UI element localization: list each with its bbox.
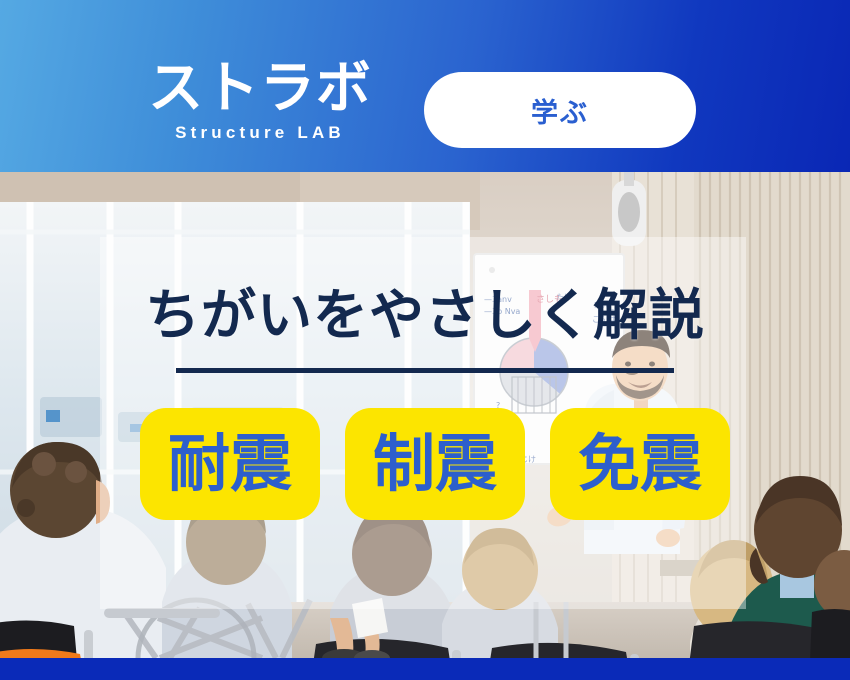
footer-bar	[0, 658, 850, 680]
brand-logo[interactable]: ストラボ Structure LAB	[140, 60, 380, 152]
badge-menshin-label: 免震	[578, 433, 702, 495]
learn-button[interactable]: 学ぶ	[424, 72, 696, 148]
svg-text:さしも: さしも	[536, 294, 563, 305]
svg-text:—3b Nva: —3b Nva	[484, 307, 520, 316]
keyword-badge-group: 耐震 制震 免震	[140, 408, 730, 520]
badge-taishin-label: 耐震	[168, 433, 292, 495]
badge-seishin[interactable]: 制震	[345, 408, 525, 520]
headline-underline	[176, 368, 674, 373]
badge-taishin[interactable]: 耐震	[140, 408, 320, 520]
badge-seishin-label: 制震	[373, 433, 497, 495]
svg-text:—3anv: —3anv	[484, 295, 512, 304]
learn-button-label: 学ぶ	[531, 91, 589, 130]
slide-canvas: ストラボ Structure LAB 学ぶ	[0, 0, 850, 680]
header-bar: ストラボ Structure LAB 学ぶ	[0, 0, 850, 172]
logo-subtitle: Structure LAB	[175, 123, 345, 142]
logo-wordmark: ストラボ	[148, 60, 371, 118]
svg-text:Nov_: Nov_	[594, 301, 615, 310]
svg-text:こんは: こんは	[592, 315, 616, 324]
badge-menshin[interactable]: 免震	[550, 408, 730, 520]
